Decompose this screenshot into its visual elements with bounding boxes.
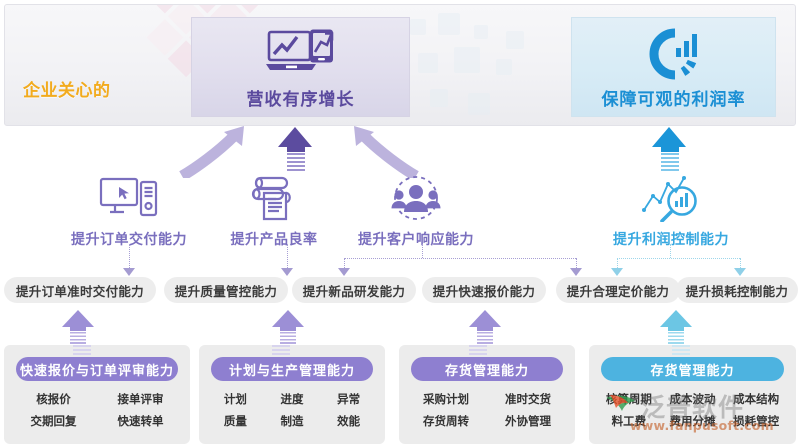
panel-item: 料工费: [599, 413, 659, 429]
arrow-up-panel-plan: [272, 310, 304, 348]
capability-profit-control[interactable]: 提升利润控制能力: [591, 172, 751, 249]
connector-arrow-profit-control-right: [734, 268, 746, 276]
goal-card-revenue-label: 营收有序增长: [247, 85, 355, 110]
arrow-up-profit: [652, 127, 688, 175]
connector-arrow-product-yield: [281, 268, 293, 276]
goal-card-revenue[interactable]: 营收有序增长: [191, 17, 410, 117]
connector-profit-control: [670, 244, 671, 258]
panel-inventory-mgmt-title: 存货管理能力: [411, 357, 563, 381]
panel-item: 采购计划: [409, 391, 483, 407]
panel-item: 接单评审: [101, 391, 180, 407]
capability-product-yield-label: 提升产品良率: [231, 229, 318, 249]
panel-item: 交期回复: [14, 413, 93, 429]
panel-plan-production[interactable]: 计划与生产管理能力 计划 进度 异常 质量 制造 效能: [199, 345, 385, 444]
capability-profit-control-label: 提升利润控制能力: [613, 229, 729, 249]
connector-product-yield: [287, 244, 288, 270]
panel-item: 制造: [266, 413, 319, 429]
panel-item: 计划: [209, 391, 262, 407]
connector-arrow-customer-response-left: [338, 268, 350, 276]
arrow-curve-left: [176, 124, 250, 178]
panel-item: 成本波动: [663, 391, 723, 407]
panel-item: 异常: [322, 391, 375, 407]
panel-cost-mgmt-title: 存货管理能力: [601, 357, 784, 381]
panel-item: 费用分摊: [663, 413, 723, 429]
header-title: 企业关心的 经营议题: [23, 29, 111, 126]
stack-lines-icon: [272, 345, 290, 357]
panel-cost-mgmt-items: 核算周期 成本波动 成本结构 料工费 费用分摊 损耗管控: [599, 391, 786, 429]
panel-quote-order-review-items: 核报价 接单评审 交期回复 快速转单: [14, 391, 180, 429]
pill-new-product-rd[interactable]: 提升新品研发能力: [292, 277, 416, 303]
pill-ontime-delivery[interactable]: 提升订单准时交付能力: [4, 277, 156, 303]
panel-item: 存货周转: [409, 413, 483, 429]
pill-rational-pricing[interactable]: 提升合理定价能力: [556, 277, 680, 303]
magnifier-chart-icon: [640, 172, 702, 222]
capability-customer-response[interactable]: 提升客户响应能力: [336, 172, 496, 249]
donut-bar-chart-icon: [645, 27, 703, 81]
arrow-up-panel-cost: [660, 310, 692, 348]
connector-order-delivery: [129, 244, 130, 270]
panel-item: 进度: [266, 391, 319, 407]
capability-customer-response-label: 提升客户响应能力: [358, 229, 474, 249]
panel-inventory-mgmt-items: 采购计划 准时交货 存货周转 外协管理: [409, 391, 565, 429]
monitor-cursor-icon: [99, 172, 159, 222]
panel-item: 质量: [209, 413, 262, 429]
panel-item: 核算周期: [599, 391, 659, 407]
panel-plan-production-title: 计划与生产管理能力: [211, 357, 373, 381]
pill-fast-quotation[interactable]: 提升快速报价能力: [422, 277, 546, 303]
header-band: 企业关心的 经营议题: [4, 4, 796, 126]
connector-arrow-customer-response-right: [570, 268, 582, 276]
diagram-canvas: 企业关心的 经营议题: [0, 0, 800, 448]
pill-loss-control[interactable]: 提升损耗控制能力: [676, 277, 798, 303]
paper-roll-doc-icon: [248, 172, 300, 222]
header-title-line1: 企业关心的: [23, 79, 111, 104]
panel-quote-order-review-title: 快速报价与订单评审能力: [16, 357, 178, 381]
capability-product-yield[interactable]: 提升产品良率: [194, 172, 354, 249]
connector-arrow-order-delivery: [123, 268, 135, 276]
panel-inventory-mgmt[interactable]: 存货管理能力 采购计划 准时交货 存货周转 外协管理: [399, 345, 575, 444]
connector-customer-response-branch: [344, 258, 576, 259]
panel-quote-order-review[interactable]: 快速报价与订单评审能力 核报价 接单评审 交期回复 快速转单: [4, 345, 190, 444]
connector-profit-control-branch: [617, 258, 740, 259]
laptop-chart-growth-icon: [265, 27, 337, 81]
users-group-icon: [384, 172, 448, 222]
panel-item: 损耗管控: [726, 413, 786, 429]
arrow-curve-right: [348, 124, 422, 178]
panel-item: 快速转单: [101, 413, 180, 429]
capability-order-delivery[interactable]: 提升订单交付能力: [49, 172, 209, 249]
arrow-up-panel-quote: [62, 310, 94, 348]
connector-arrow-profit-control-left: [611, 268, 623, 276]
arrow-up-panel-inventory: [469, 310, 501, 348]
panel-cost-mgmt[interactable]: 存货管理能力 核算周期 成本波动 成本结构 料工费 费用分摊 损耗管控: [589, 345, 796, 444]
goal-card-profit[interactable]: 保障可观的利润率: [571, 17, 776, 117]
arrow-up-revenue: [278, 127, 314, 175]
stack-lines-icon: [73, 345, 91, 357]
panel-item: 核报价: [14, 391, 93, 407]
stack-lines-icon: [672, 345, 690, 357]
panel-item: 效能: [322, 413, 375, 429]
panel-item: 外协管理: [491, 413, 565, 429]
connector-customer-response: [422, 244, 423, 258]
goal-card-profit-label: 保障可观的利润率: [602, 85, 746, 110]
panel-item: 成本结构: [726, 391, 786, 407]
panel-plan-production-items: 计划 进度 异常 质量 制造 效能: [209, 391, 375, 429]
stack-lines-icon: [469, 345, 487, 357]
panel-item: 准时交货: [491, 391, 565, 407]
pill-quality-control[interactable]: 提升质量管控能力: [164, 277, 288, 303]
